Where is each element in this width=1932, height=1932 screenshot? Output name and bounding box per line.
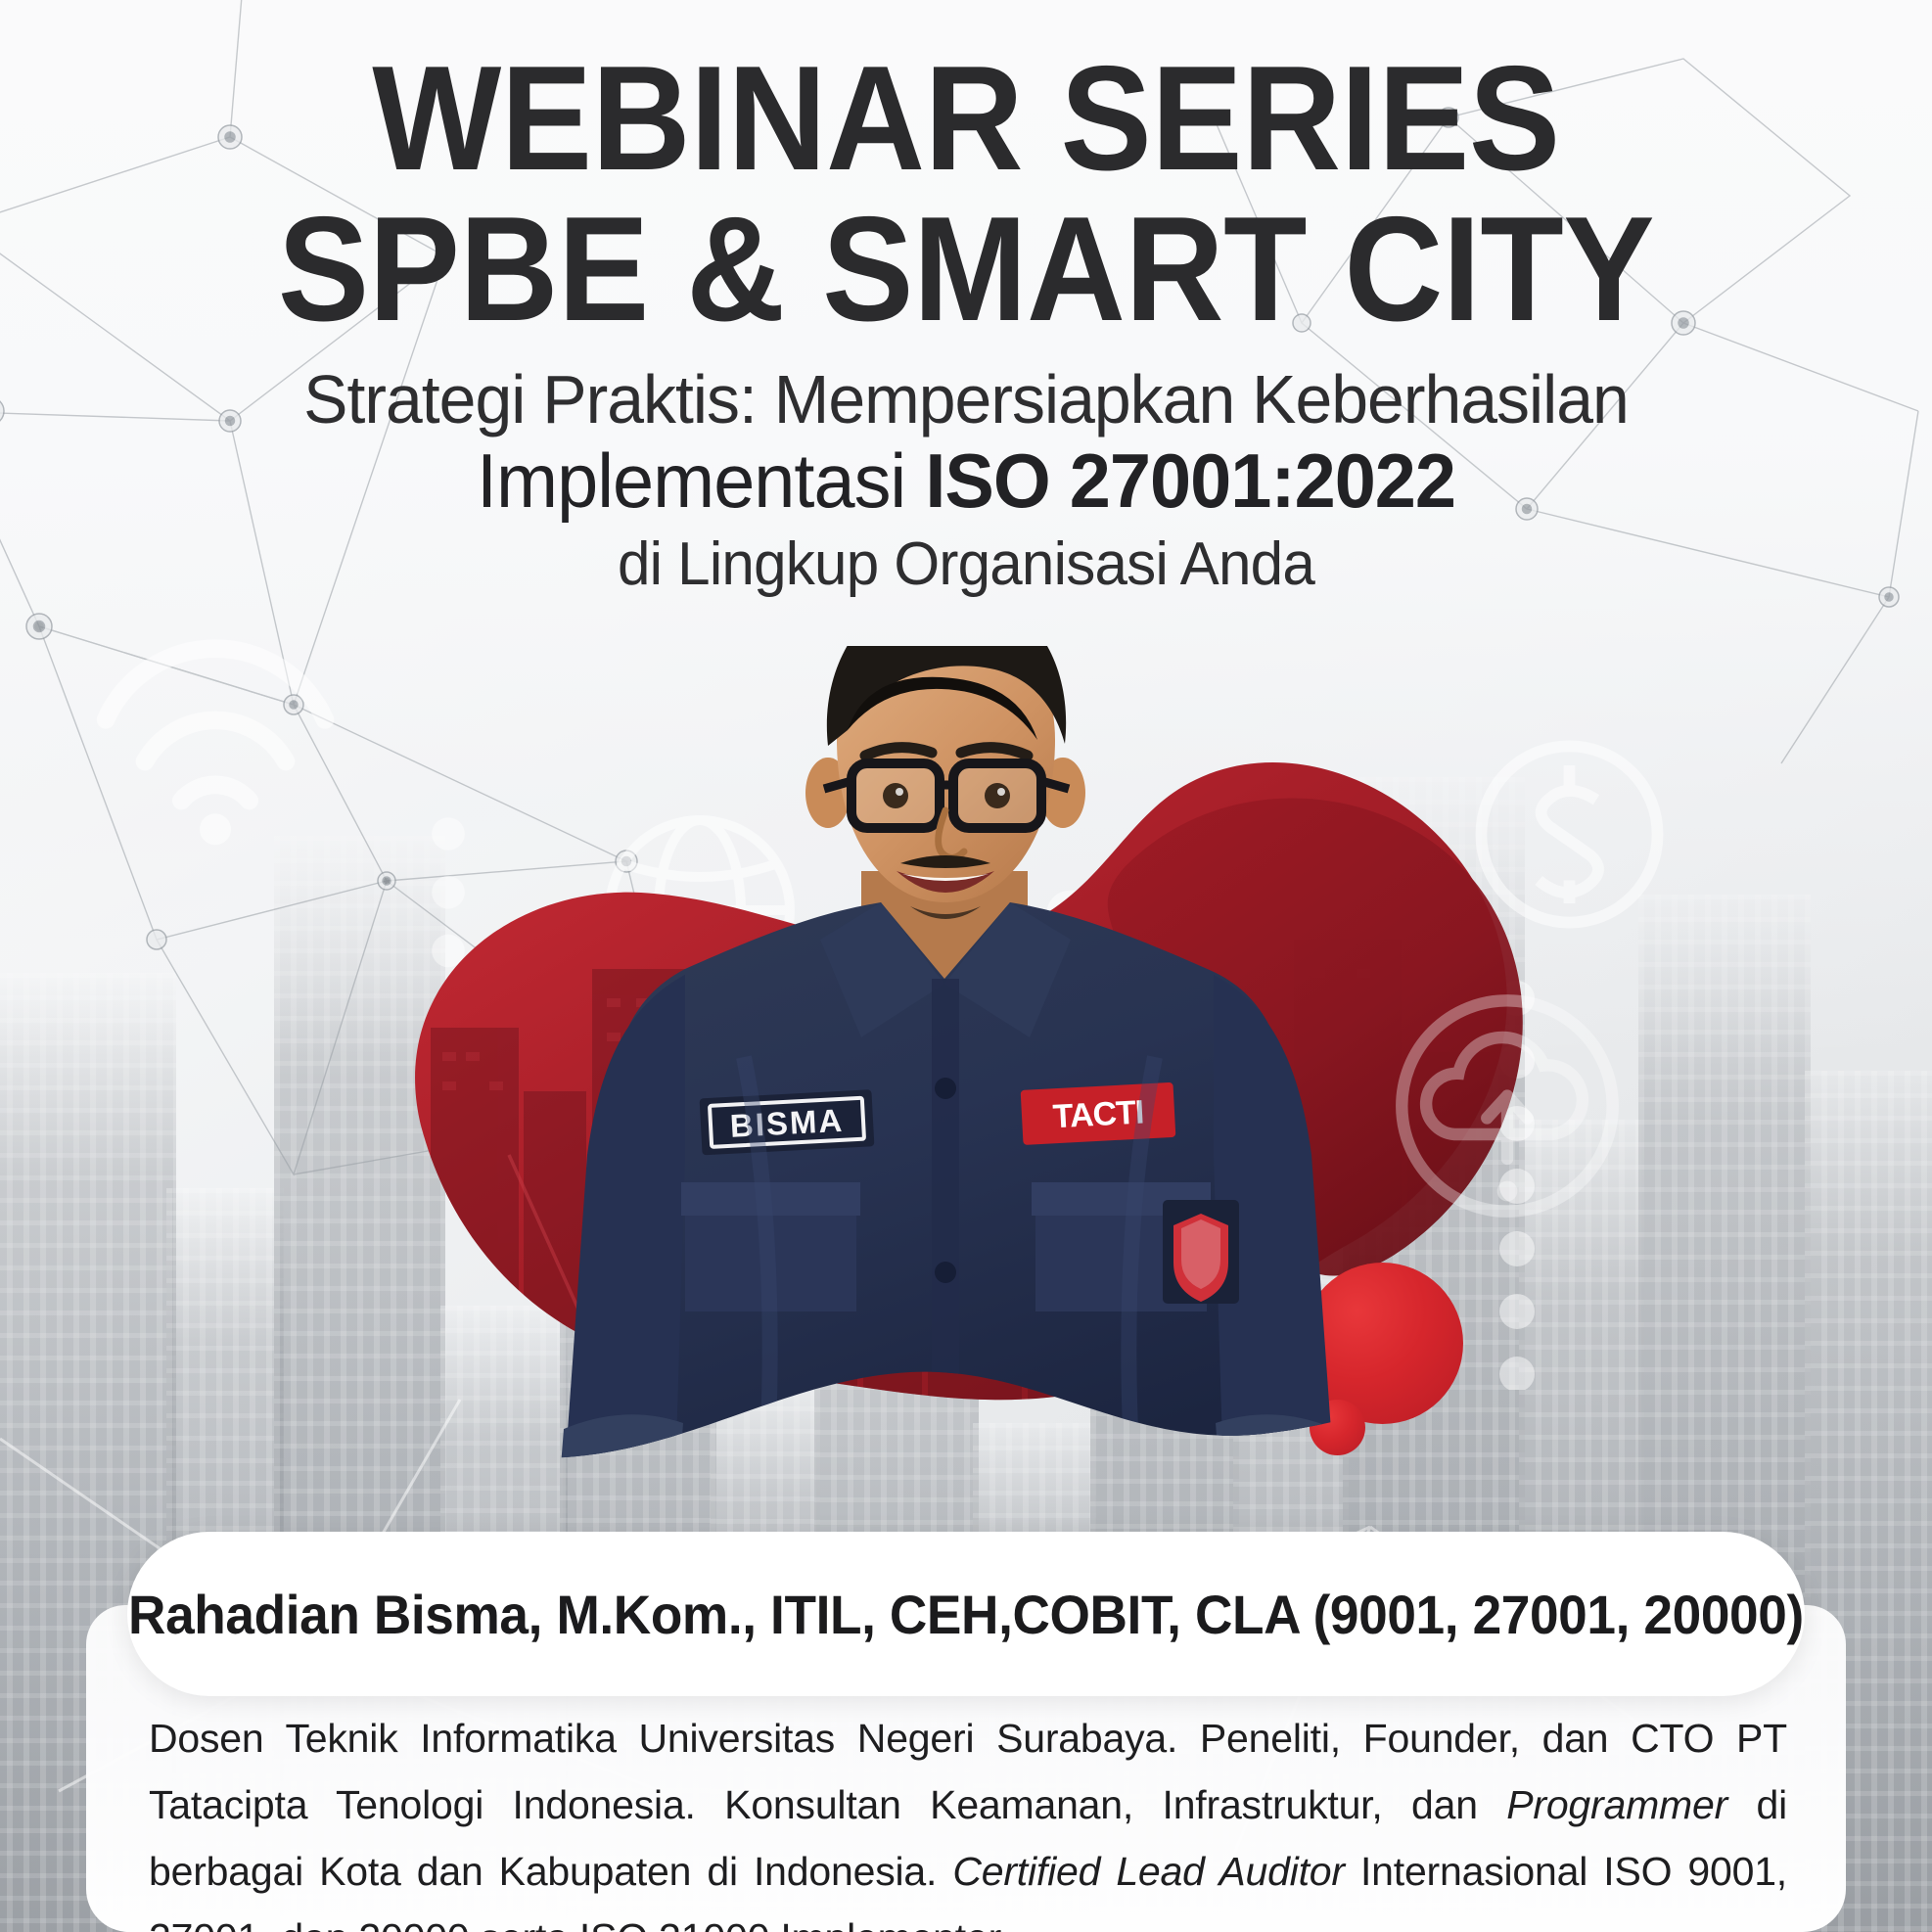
subtitle-iso-standard: ISO 27001:2022 [925, 437, 1455, 524]
subtitle-line-3: di Lingkup Organisasi Anda [29, 529, 1904, 599]
subtitle-implementasi: Implementasi [477, 437, 925, 524]
dotted-column-left-icon [421, 812, 476, 1184]
red-circle-small-right [1310, 1400, 1365, 1455]
webinar-poster: WEBINAR SERIES SPBE & SMART CITY Strateg… [0, 0, 1932, 1932]
bio-italic-lead-auditor: Certified Lead Auditor [952, 1849, 1345, 1894]
svg-text:BISMA: BISMA [729, 1102, 845, 1144]
globe-icon [582, 793, 817, 1028]
speaker-bio: Dosen Teknik Informatika Universitas Neg… [149, 1705, 1787, 1932]
cloud-upload-icon [1365, 964, 1649, 1248]
speaker-name-badge: Rahadian Bisma, M.Kom., ITIL, CEH,COBIT,… [127, 1532, 1805, 1696]
title-line-2: SPBE & SMART CITY [77, 202, 1855, 339]
subtitle-line-1: Strategi Praktis: Mempersiapkan Keberhas… [29, 364, 1904, 437]
tablet-icon [1008, 861, 1219, 1106]
speaker-name-text: Rahadian Bisma, M.Kom., ITIL, CEH,COBIT,… [128, 1583, 1804, 1646]
wifi-icon [59, 558, 372, 871]
dollar-circle-icon [1454, 719, 1684, 949]
red-circle-large-right [1302, 1263, 1463, 1424]
svg-text:TACTI: TACTI [1052, 1093, 1144, 1135]
red-circle-large-left [636, 1067, 752, 1182]
poster-heading: WEBINAR SERIES SPBE & SMART CITY Strateg… [0, 51, 1932, 599]
title-line-1: WEBINAR SERIES [77, 51, 1855, 188]
bio-italic-programmer: Programmer [1506, 1782, 1727, 1827]
dotted-column-icon [1488, 979, 1546, 1390]
subtitle-line-2: Implementasi ISO 27001:2022 [29, 441, 1904, 522]
speaker-photo: BISMA TACTI [0, 646, 1932, 1625]
